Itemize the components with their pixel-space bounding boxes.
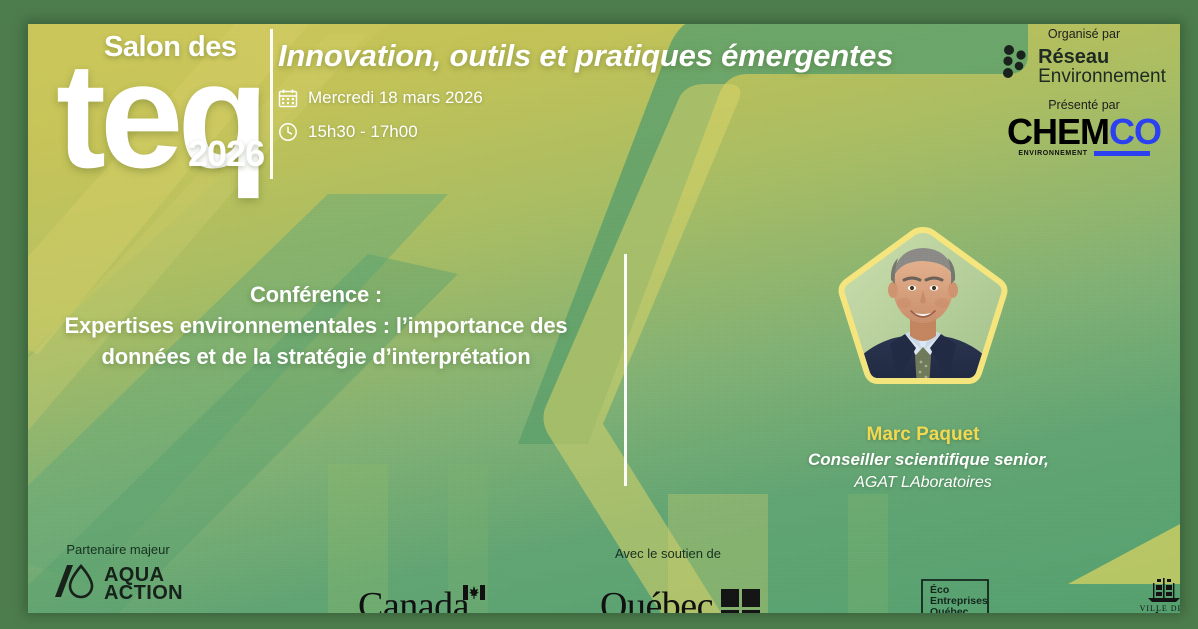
quebec-flag-cell — [721, 589, 739, 607]
canada-flag-icon — [467, 587, 489, 602]
session-title-line2: Expertises environnementales : l’importa… — [36, 310, 596, 341]
content-divider — [624, 254, 627, 486]
major-partner-label: Partenaire majeur — [28, 542, 208, 557]
header-text-block: Innovation, outils et pratiques émergent… — [278, 38, 968, 142]
reseau-logo-text: Réseau Environnement — [1038, 47, 1166, 87]
event-theme-title: Innovation, outils et pratiques émergent… — [278, 38, 968, 74]
chemco-logo: CHEMCO ENVIRONNEMENT — [994, 115, 1174, 157]
quebec-wordmark-text: Québec — [600, 584, 713, 613]
header-divider — [270, 29, 273, 179]
svg-text:Québec: Québec — [930, 606, 969, 613]
major-partner-block: Partenaire majeur AQUA ACTION — [28, 542, 208, 604]
support-label: Avec le soutien de — [328, 546, 1008, 561]
aquaaction-line2: ACTION — [104, 584, 183, 602]
reseau-logo-line1: Réseau — [1038, 47, 1166, 67]
poster-root: Salon des teq 2026 Innovation, outils et… — [0, 0, 1198, 629]
reseau-dots-icon — [1002, 44, 1032, 89]
reseau-environnement-logo: Réseau Environnement — [994, 44, 1174, 89]
session-title: Conférence : Expertises environnementale… — [36, 279, 596, 372]
support-block: Avec le soutien de Canada Québec — [328, 546, 1008, 561]
event-date-text: Mercredi 18 mars 2026 — [308, 88, 483, 108]
speaker-role: Conseiller scientifique senior, — [808, 450, 1038, 470]
chemco-subline: ENVIRONNEMENT — [994, 150, 1174, 157]
presented-by-label: Présenté par — [994, 98, 1174, 112]
event-logo: Salon des teq 2026 — [48, 24, 278, 198]
logo-year-text: 2026 — [188, 133, 264, 175]
chemco-word-chem: CHEM — [1007, 111, 1109, 152]
chemco-blue-bar — [1094, 151, 1150, 156]
quebec-flag-cell — [721, 610, 739, 614]
speaker-name: Marc Paquet — [808, 424, 1038, 446]
speaker-organization: AGAT LAboratoires — [808, 474, 1038, 492]
ville-de-quebec-line2: QUÉBEC — [1118, 611, 1180, 613]
eco-entreprises-quebec-logo: Éco Entreprises Québec — [918, 578, 1028, 613]
session-title-line3: données et de la stratégie d’interprétat… — [36, 341, 596, 372]
quebec-flag-cell — [742, 589, 760, 607]
event-date-row: Mercredi 18 mars 2026 — [278, 88, 968, 108]
aquaaction-wordmark: AQUA ACTION — [104, 566, 183, 602]
session-title-line1: Conférence : — [36, 279, 596, 310]
chemco-sub-text: ENVIRONNEMENT — [1018, 150, 1087, 157]
support-logo-row: Canada Québec — [328, 576, 1180, 613]
organizer-block: Organisé par — [994, 24, 1174, 157]
clock-icon — [278, 122, 298, 142]
event-time-text: 15h30 - 17h00 — [308, 122, 418, 142]
quebec-fleurdelis-icon — [721, 589, 760, 614]
aquaaction-logo: AQUA ACTION — [28, 563, 208, 604]
canada-wordmark-text: Canada — [358, 585, 469, 613]
aquaaction-line1: AQUA — [104, 566, 183, 584]
speaker-photo-frame — [828, 220, 1018, 410]
chemco-wordmark: CHEMCO — [994, 115, 1174, 149]
ville-de-quebec-logo: VILLE DE QUÉBEC — [1118, 574, 1180, 613]
poster-canvas: Salon des teq 2026 Innovation, outils et… — [28, 24, 1180, 613]
quebec-flag-cell — [742, 610, 760, 614]
organized-by-label: Organisé par — [994, 27, 1174, 41]
calendar-icon — [278, 88, 298, 108]
quebec-wordmark: Québec — [600, 584, 760, 613]
event-time-row: 15h30 - 17h00 — [278, 122, 968, 142]
canada-wordmark: Canada — [358, 584, 489, 613]
ship-icon — [1118, 574, 1180, 604]
header: Salon des teq 2026 Innovation, outils et… — [28, 24, 1180, 200]
reseau-logo-line2: Environnement — [1038, 67, 1166, 86]
speaker-block: Marc Paquet Conseiller scientifique seni… — [808, 220, 1038, 492]
chemco-word-co: CO — [1109, 111, 1161, 152]
aquaaction-mark-icon — [53, 563, 97, 604]
